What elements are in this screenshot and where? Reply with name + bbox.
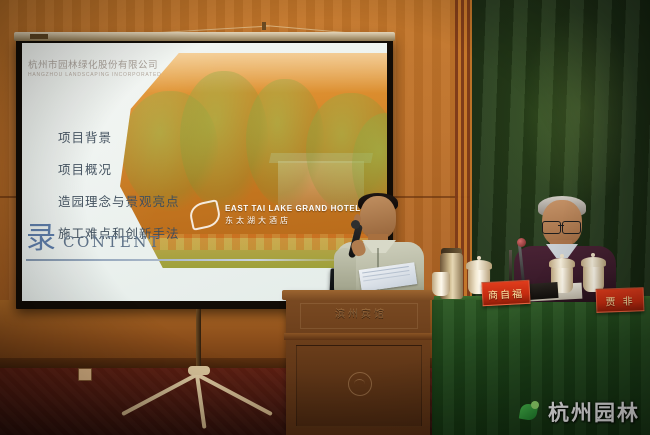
teacup-knob [477, 256, 481, 260]
presenter-at-podium [334, 196, 426, 296]
podium-molding [284, 333, 432, 340]
leaf-icon [520, 401, 542, 423]
screen-roller-bar [14, 32, 395, 41]
presenter-head [360, 196, 396, 239]
photo-scene: 杭州市园林绿化股份有限公司 Hangzhou Landscaping Incor… [0, 0, 650, 435]
teacup-knob [591, 253, 595, 257]
curtain-light-glow [520, 10, 640, 210]
tripod-pole [196, 309, 201, 371]
eyeglasses-bridge [558, 225, 564, 226]
slide-section-heading: 录 CONTENT [26, 225, 161, 254]
outline-item: 项目概况 [58, 159, 278, 178]
teacup-lid [549, 258, 575, 268]
nameplate: 商自福 [481, 280, 530, 306]
eyeglasses-icon [562, 221, 581, 234]
nameplate: 贾 非 [596, 287, 645, 313]
screen-roller-knob [30, 34, 48, 39]
section-heading-en: CONTENT [63, 233, 161, 254]
outline-item: 造园理念与景观亮点 [58, 191, 278, 210]
nameplate-text: 贾 非 [605, 292, 635, 308]
teacup-knob [560, 254, 564, 258]
watermark-text: 杭州园林 [548, 397, 640, 427]
slide-divider-rule [26, 259, 356, 261]
ceiling-hook [262, 22, 266, 30]
watermark: 杭州园林 [520, 397, 640, 427]
eyeglasses-icon [542, 221, 561, 234]
podium-top-surface [282, 290, 434, 300]
nameplate-text: 商自福 [488, 285, 525, 302]
podium-emblem-icon [348, 372, 372, 396]
section-heading-zh: 录 [26, 225, 56, 254]
teacup-lid [581, 257, 606, 267]
outline-item: 项目背景 [58, 127, 278, 146]
wall-outlet [78, 368, 92, 381]
teacup-lid [466, 260, 492, 270]
projection-screen-surface: 杭州市园林绿化股份有限公司 Hangzhou Landscaping Incor… [22, 43, 387, 301]
microphone-head-icon [517, 238, 526, 247]
tripod-hub [188, 366, 210, 375]
podium-engraved-text: 滨州宾馆 [330, 305, 392, 320]
open-folder [527, 282, 558, 300]
teacup [432, 272, 450, 296]
microphone-head-icon [351, 220, 360, 229]
